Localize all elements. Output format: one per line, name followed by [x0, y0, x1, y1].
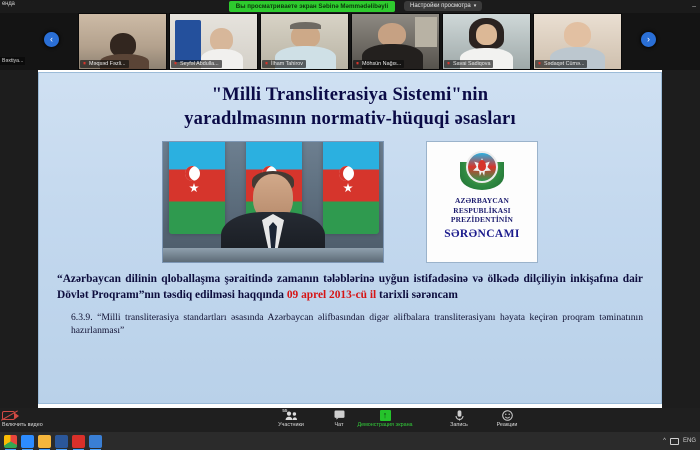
record-label: Запись — [450, 422, 468, 428]
windows-taskbar: ^ ENG — [0, 432, 700, 450]
window-left-label: енда — [2, 1, 15, 7]
emblem-line-1: AZƏRBAYCAN — [455, 196, 509, 206]
microphone-glyph — [455, 410, 464, 421]
participant-name-badge: Möhsün Nağıs... — [353, 60, 404, 68]
participant-name-badge: İlham Tahirov — [262, 60, 306, 68]
person-silhouette — [378, 23, 406, 46]
presentation-slide: "Milli Transliterasiya Sistemi"nin yarad… — [38, 72, 662, 404]
zoom-icon[interactable] — [21, 435, 34, 448]
reactions-button[interactable]: Реакции — [478, 409, 536, 428]
filmstrip-edge-left: Bəxtiya... — [0, 13, 78, 70]
azerbaijan-flag-icon — [169, 141, 225, 234]
mic-muted-icon — [82, 62, 87, 67]
filmstrip-next-button[interactable]: › — [640, 31, 657, 48]
person-silhouette — [210, 28, 233, 51]
mic-muted-icon — [446, 62, 451, 67]
share-screen-button[interactable]: ↑ Демонстрация экрана — [348, 409, 422, 428]
slide-media-row: AZƏRBAYCAN RESPUBLİKASI PREZİDENTİNİN SƏ… — [39, 141, 661, 263]
participant-tile[interactable]: Sədaqət Cümə... — [533, 13, 622, 70]
person-silhouette — [564, 22, 592, 47]
display-icon[interactable] — [670, 438, 679, 445]
participant-name-badge: Məqsəd Fəzli... — [80, 60, 129, 68]
slide-title: "Milli Transliterasiya Sistemi"nin yarad… — [39, 73, 661, 131]
stage-letterbox-left — [0, 70, 38, 408]
start-video-label: Включить видео — [2, 422, 43, 428]
shared-screen-stage: "Milli Transliterasiya Sistemi"nin yarad… — [0, 70, 700, 408]
record-icon — [455, 409, 464, 421]
smiley-glyph — [502, 410, 513, 421]
stage-letterbox-right — [662, 70, 700, 408]
camera-off-icon — [2, 409, 15, 421]
star-icon — [343, 183, 353, 193]
participant-name-badge: Seyfəl Abdulla... — [171, 60, 222, 68]
decree-quote: “Azərbaycan dilinin qloballaşma şəraitin… — [57, 272, 643, 303]
filmstrip-edge-right — [622, 13, 700, 70]
screen-share-banner: Вы просматриваете экран Səbinə Məmmədəli… — [229, 1, 395, 12]
view-settings-button[interactable]: Настройки просмотра ▾ — [404, 1, 482, 11]
chat-bubble-icon — [334, 409, 345, 421]
participant-name-badge: Sədaqət Cümə... — [535, 60, 587, 68]
taskbar-app-icons — [0, 435, 102, 448]
shelf-object — [415, 17, 438, 47]
desk-surface — [163, 248, 383, 262]
media-icon[interactable] — [89, 435, 102, 448]
azerbaijan-state-emblem-icon — [459, 150, 505, 192]
participant-name: Məqsəd Fəzli... — [89, 61, 126, 67]
language-indicator[interactable]: ENG — [683, 438, 696, 444]
chrome-icon[interactable] — [4, 435, 17, 448]
participant-name: Möhsün Nağıs... — [362, 61, 401, 67]
zoom-meeting-window: енда Вы просматриваете экран Səbinə Məmm… — [0, 0, 700, 450]
crescent-icon — [339, 166, 354, 181]
start-video-button[interactable]: Включить видео — [2, 409, 52, 428]
crescent-icon — [185, 166, 200, 181]
chevron-down-icon: ▾ — [474, 3, 477, 9]
system-tray: ^ ENG — [663, 438, 700, 445]
participant-name-badge: Savai Sadiqova — [444, 60, 493, 68]
participant-name: İlham Tahirov — [271, 61, 303, 67]
participant-name: Sədaqət Cümə... — [544, 61, 584, 67]
emblem-line-3: PREZİDENTİNİN — [451, 215, 513, 225]
share-screen-label: Демонстрация экрана — [357, 422, 412, 428]
mic-muted-icon — [355, 62, 360, 67]
azerbaijan-flag-icon — [323, 141, 379, 234]
meeting-controls-toolbar: Включить видео 55 Участники — [0, 408, 700, 432]
participants-label: Участники — [278, 422, 304, 428]
mic-muted-icon — [537, 62, 542, 67]
participant-tile[interactable]: Məqsəd Fəzli... — [78, 13, 167, 70]
chat-label: Чат — [335, 422, 344, 428]
monitor-object — [175, 20, 201, 63]
reactions-label: Реакции — [497, 422, 518, 428]
reactions-icon — [502, 409, 513, 421]
participants-count-badge: 55 — [282, 408, 287, 413]
filmstrip-prev-button[interactable]: ‹ — [43, 31, 60, 48]
slide-title-line1: "Milli Transliterasiya Sistemi"nin — [212, 85, 488, 105]
flame-shape — [478, 160, 486, 171]
decree-quote-part2: tarixli sərəncam — [376, 289, 458, 301]
chat-glyph — [334, 410, 345, 420]
hair-region — [290, 22, 321, 30]
explorer-icon[interactable] — [38, 435, 51, 448]
mic-muted-icon — [264, 62, 269, 67]
participant-tile[interactable]: Möhsün Nağıs... — [351, 13, 440, 70]
star-icon — [189, 183, 199, 193]
view-settings-label: Настройки просмотра — [410, 3, 471, 9]
screen-share-topbar: енда Вы просматриваете экран Səbinə Məmm… — [0, 0, 700, 13]
participant-tile[interactable]: Savai Sadiqova — [442, 13, 531, 70]
mic-muted-icon — [173, 62, 178, 67]
emblem-line-2: RESPUBLİKASI — [453, 206, 510, 216]
tray-expand-icon[interactable]: ^ — [663, 438, 666, 444]
president-signing-photo — [162, 141, 384, 263]
participant-name: Seyfəl Abdulla... — [180, 61, 219, 67]
slide-title-line2: yaradılmasının normativ-hüquqi əsasları — [53, 107, 647, 131]
share-arrow-glyph: ↑ — [380, 410, 391, 421]
decree-date: 09 aprel 2013-cü il — [287, 289, 376, 301]
pdf-icon[interactable] — [72, 435, 85, 448]
participant-tile[interactable]: Seyfəl Abdulla... — [169, 13, 258, 70]
decree-emblem-card: AZƏRBAYCAN RESPUBLİKASI PREZİDENTİNİN SƏ… — [426, 141, 538, 263]
filmstrip-tiles: Məqsəd Fəzli... Seyfəl Abdulla... — [78, 13, 622, 70]
participants-icon: 55 — [285, 409, 298, 421]
participant-tile[interactable]: İlham Tahirov — [260, 13, 349, 70]
decree-subclause: 6.3.9. “Milli transliterasiya standartla… — [71, 311, 643, 337]
share-screen-icon: ↑ — [380, 409, 391, 421]
participant-name: Savai Sadiqova — [453, 61, 490, 67]
participant-filmstrip: Bəxtiya... Məqsəd Fəzli... Seyfəl — [0, 13, 700, 70]
minimize-icon[interactable]: – — [692, 3, 696, 10]
word-icon[interactable] — [55, 435, 68, 448]
filmstrip-edge-name: Bəxtiya... — [0, 57, 25, 65]
person-silhouette — [476, 24, 497, 45]
emblem-line-4: SƏRƏNCAMI — [444, 228, 520, 240]
